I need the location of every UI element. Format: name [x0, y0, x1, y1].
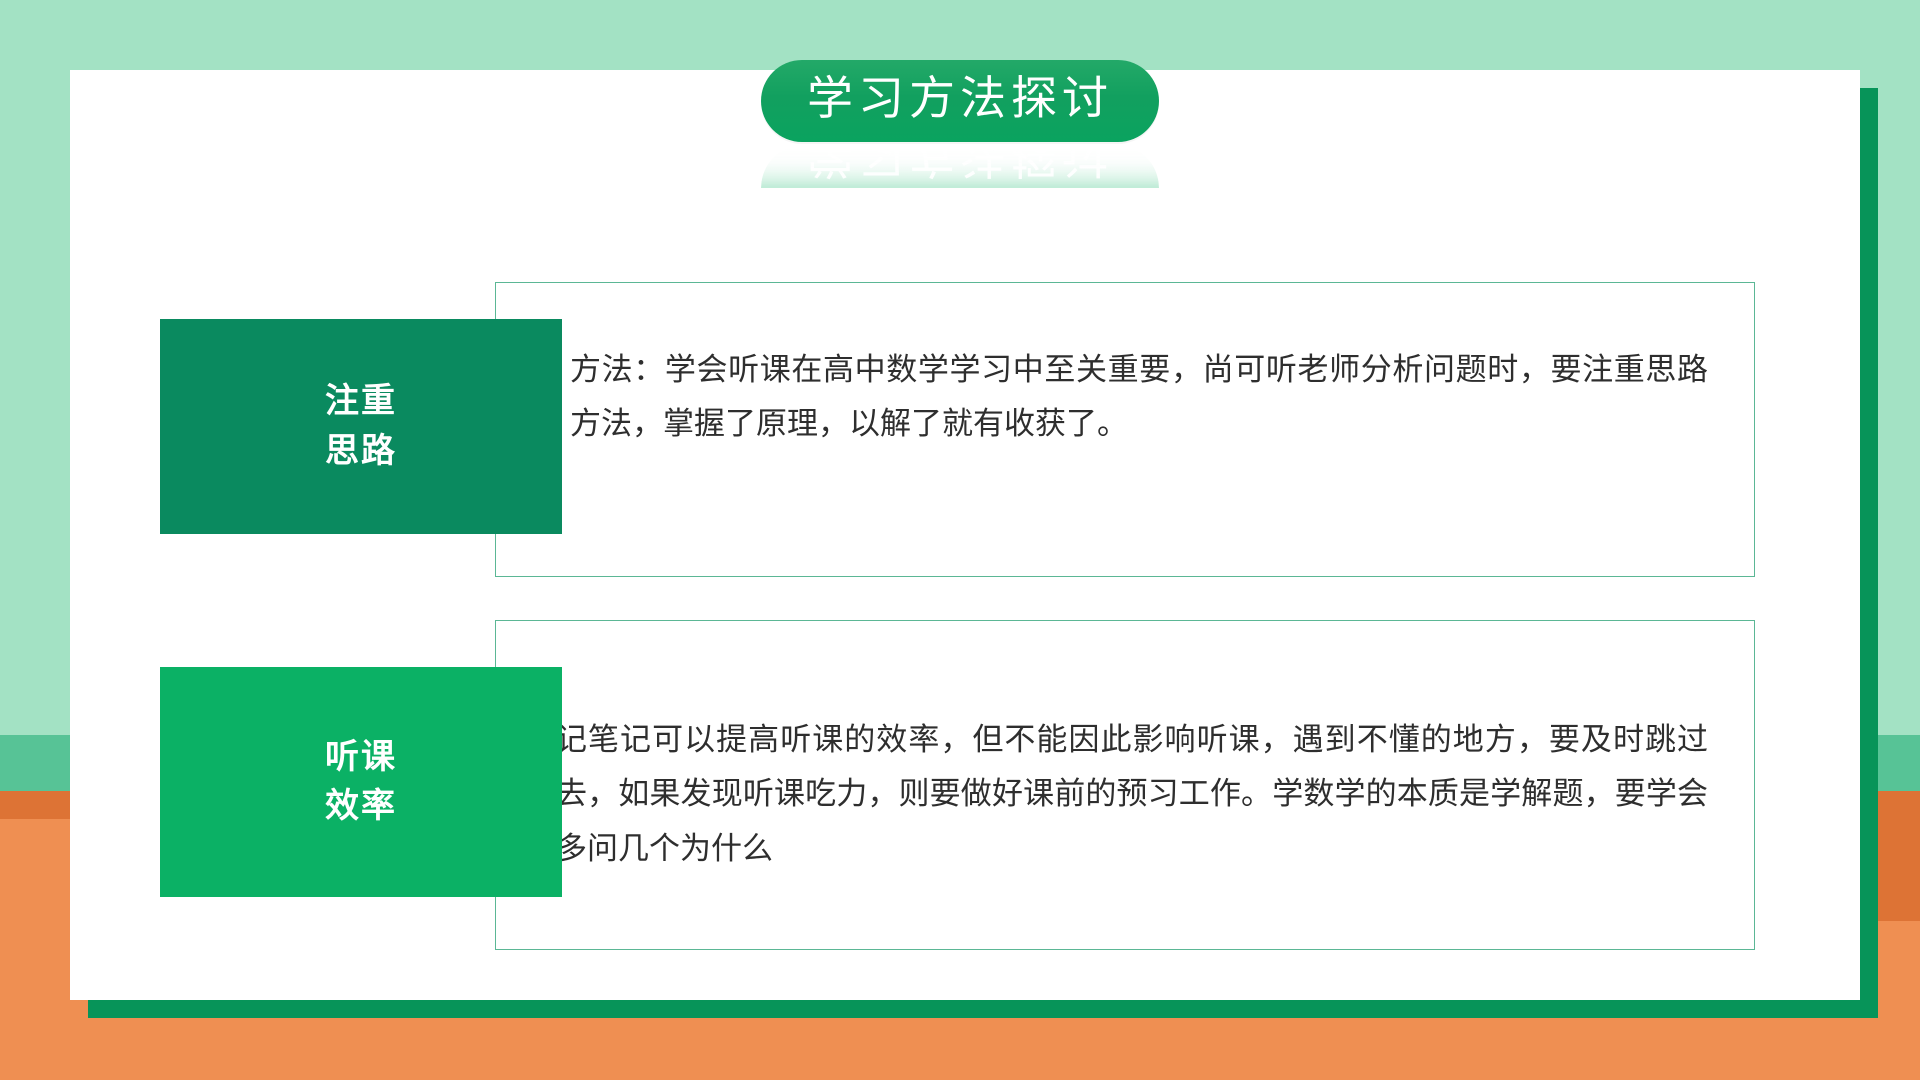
slide-title-pill: 学习方法探讨	[761, 60, 1159, 142]
body-text-2: 记笔记可以提高听课的效率，但不能因此影响听课，遇到不懂的地方，要及时跳过去，如果…	[556, 713, 1708, 876]
content-row-2: 记笔记可以提高听课的效率，但不能因此影响听课，遇到不懂的地方，要及时跳过去，如果…	[0, 620, 1920, 920]
body-paragraph: 方法：学会听课在高中数学学习中至关重要，尚可听老师分析问题时，要注重思路方法，掌…	[556, 343, 1708, 452]
category-label-2-line-1: 听课	[325, 733, 397, 782]
category-label-2: 听课 效率	[160, 667, 562, 897]
slide-title-block: 学习方法探讨 学习方法探讨	[0, 60, 1920, 188]
category-label-1-line-1: 注重	[325, 377, 397, 426]
slide-title-reflection: 学习方法探讨	[761, 144, 1159, 188]
body-paragraph: 记笔记可以提高听课的效率，但不能因此影响听课，遇到不懂的地方，要及时跳过去，如果…	[556, 713, 1708, 876]
category-label-1: 注重 思路	[160, 319, 562, 534]
content-box-1: 方法：学会听课在高中数学学习中至关重要，尚可听老师分析问题时，要注重思路方法，掌…	[495, 282, 1755, 577]
category-label-2-line-2: 效率	[325, 782, 397, 831]
category-label-1-line-2: 思路	[325, 427, 397, 476]
body-text-1: 方法：学会听课在高中数学学习中至关重要，尚可听老师分析问题时，要注重思路方法，掌…	[556, 343, 1708, 452]
content-box-2: 记笔记可以提高听课的效率，但不能因此影响听课，遇到不懂的地方，要及时跳过去，如果…	[495, 620, 1755, 950]
content-row-1: 方法：学会听课在高中数学学习中至关重要，尚可听老师分析问题时，要注重思路方法，掌…	[0, 282, 1920, 582]
